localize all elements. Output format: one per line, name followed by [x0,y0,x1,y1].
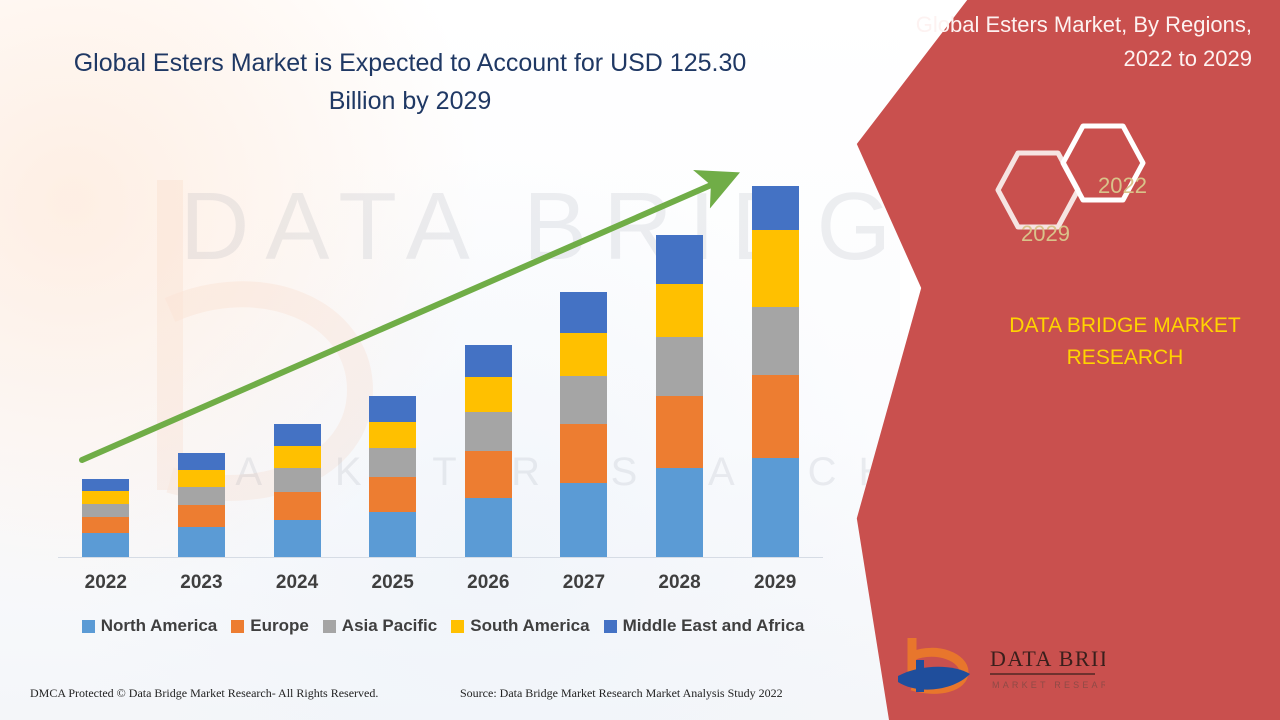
bar-segment [178,470,225,487]
x-axis-label-2028: 2028 [632,572,727,594]
bar-segment [82,533,129,557]
chart-plot-area [58,150,823,558]
hexagon-badges-icon [980,118,1190,268]
bar-segment [656,396,703,468]
svg-text:MARKET RESEARCH: MARKET RESEARCH [992,680,1105,690]
bar-stack-2029 [752,186,799,557]
x-axis-label-2027: 2027 [536,572,631,594]
legend-swatch-icon [82,620,95,633]
bar-segment [752,375,799,458]
legend-swatch-icon [451,620,464,633]
brand-name: DATA BRIDGE MARKET RESEARCH [975,310,1275,374]
legend-label: South America [470,616,589,636]
hexagon-2022-label: 2022 [1098,173,1147,199]
bar-segment [274,446,321,468]
legend-swatch-icon [231,620,244,633]
bar-stack-2028 [656,235,703,557]
legend-item[interactable]: Europe [231,616,309,636]
legend-label: North America [101,616,218,636]
bar-segment [369,477,416,512]
bar-segment [178,453,225,470]
bar-column [154,157,249,557]
bar-column [441,157,536,557]
bar-segment [82,479,129,491]
bar-segment [656,235,703,284]
x-axis-label-2025: 2025 [345,572,440,594]
legend-label: Europe [250,616,309,636]
bar-segment [656,337,703,396]
footer-copyright: DMCA Protected © Data Bridge Market Rese… [30,686,378,701]
bar-segment [465,498,512,557]
bar-segment [369,422,416,448]
svg-text:DATA BRIDGE: DATA BRIDGE [990,646,1105,671]
legend-item[interactable]: Asia Pacific [323,616,437,636]
bar-stack-2027 [560,292,607,557]
bar-segment [274,424,321,446]
bar-segment [465,345,512,377]
bar-stack-2024 [274,424,321,557]
bar-segment [560,376,607,424]
bar-segment [656,468,703,557]
bar-column [632,157,727,557]
bar-segment [82,517,129,533]
legend-item[interactable]: Middle East and Africa [604,616,805,636]
bar-segment [560,292,607,333]
bar-column [536,157,631,557]
legend-item[interactable]: South America [451,616,589,636]
bar-column [250,157,345,557]
x-axis-label-2029: 2029 [728,572,823,594]
x-axis-line [58,557,823,558]
x-axis-label-2022: 2022 [58,572,153,594]
bar-stack-2025 [369,396,416,557]
bar-segment [656,284,703,337]
bar-segment [369,512,416,557]
bar-segment [560,483,607,557]
bar-segment [560,333,607,376]
bar-segment [752,186,799,230]
bar-column [728,157,823,557]
bar-segment [369,396,416,422]
bar-stack-2023 [178,453,225,557]
hexagon-2029-label: 2029 [1021,221,1070,247]
bar-group [58,157,823,557]
legend-swatch-icon [323,620,336,633]
bar-stack-2026 [465,345,512,557]
bar-segment [178,487,225,505]
bar-segment [465,412,512,451]
bar-segment [178,527,225,557]
bar-column [345,157,440,557]
chart-legend: North AmericaEuropeAsia PacificSouth Ame… [58,616,828,636]
x-axis-labels: 20222023202420252026202720282029 [58,572,823,594]
bar-column [58,157,153,557]
bar-segment [274,492,321,520]
bar-segment [369,448,416,477]
x-axis-label-2026: 2026 [441,572,536,594]
bar-segment [752,458,799,557]
x-axis-label-2023: 2023 [154,572,249,594]
panel-title: Global Esters Market, By Regions, 2022 t… [862,8,1252,76]
bar-segment [82,491,129,504]
page-title: Global Esters Market is Expected to Acco… [60,44,760,120]
bar-segment [274,468,321,492]
infographic-canvas: DATA BRIDGE MARKET RESEARCH Global Ester… [0,0,1280,720]
footer-source: Source: Data Bridge Market Research Mark… [460,686,783,701]
legend-swatch-icon [604,620,617,633]
bar-segment [82,504,129,517]
bar-segment [752,230,799,307]
bar-stack-2022 [82,479,129,557]
bar-segment [752,307,799,375]
legend-item[interactable]: North America [82,616,218,636]
bar-segment [465,451,512,498]
bar-segment [560,424,607,483]
bar-segment [465,377,512,412]
legend-label: Middle East and Africa [623,616,805,636]
data-bridge-logo-icon: DATA BRIDGE MARKET RESEARCH [890,630,1105,705]
legend-label: Asia Pacific [342,616,437,636]
x-axis-label-2024: 2024 [250,572,345,594]
bar-segment [274,520,321,557]
bar-segment [178,505,225,527]
